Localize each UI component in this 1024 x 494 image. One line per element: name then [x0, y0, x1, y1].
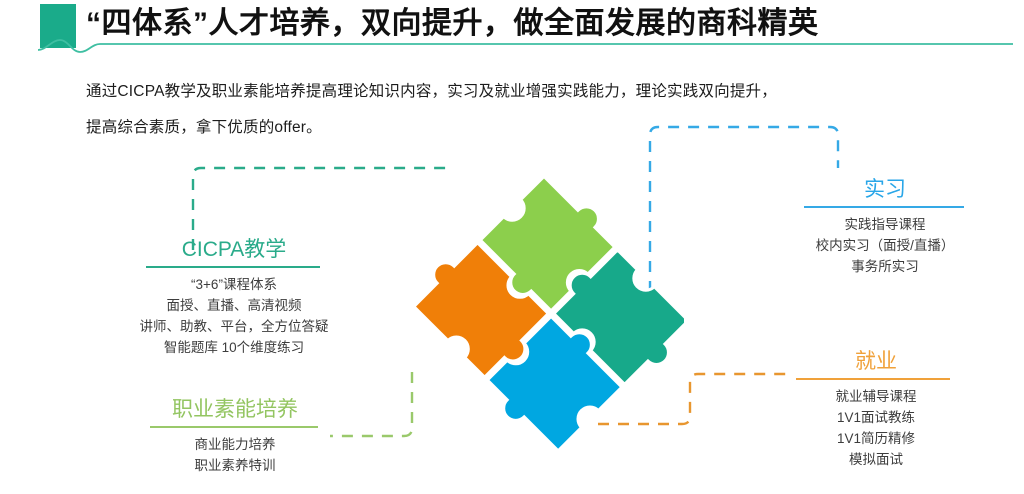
block-intern-line-2: 校内实习（面授/直播） [752, 235, 1018, 256]
block-employment-heading: 就业 [738, 348, 1014, 376]
block-employment-lines: 就业辅导课程 1V1面试教练 1V1简历精修 模拟面试 [738, 386, 1014, 470]
block-vocational: 职业素能培养 商业能力培养 职业素养特训 [102, 396, 368, 476]
block-intern-heading: 实习 [752, 176, 1018, 204]
block-vocational-lines: 商业能力培养 职业素养特训 [102, 434, 368, 476]
block-intern-lines: 实践指导课程 校内实习（面授/直播） 事务所实习 [752, 214, 1018, 277]
block-cicpa-line-2: 面授、直播、高清视频 [96, 295, 372, 316]
block-cicpa-line-3: 讲师、助教、平台，全方位答疑 [96, 316, 372, 337]
title-underline-squiggle [38, 38, 1013, 58]
block-cicpa-lines: “3+6”课程体系 面授、直播、高清视频 讲师、助教、平台，全方位答疑 智能题库… [96, 274, 372, 358]
block-cicpa-heading: CICPA教学 [96, 236, 372, 264]
block-cicpa-line-4: 智能题库 10个维度练习 [96, 337, 372, 358]
block-employment-line-1: 就业辅导课程 [738, 386, 1014, 407]
intro-line-2: 提高综合素质，拿下优质的offer。 [86, 110, 1006, 146]
intro-paragraph: 通过CICPA教学及职业素能培养提高理论知识内容，实习及就业增强实践能力，理论实… [86, 74, 1006, 146]
block-intern-line-1: 实践指导课程 [752, 214, 1018, 235]
block-vocational-line-1: 商业能力培养 [102, 434, 368, 455]
puzzle-graphic [404, 150, 684, 480]
block-cicpa-line-1: “3+6”课程体系 [96, 274, 372, 295]
slide-canvas: “四体系”人才培养，双向提升，做全面发展的商科精英 通过CICPA教学及职业素能… [0, 0, 1024, 494]
block-vocational-line-2: 职业素养特训 [102, 455, 368, 476]
intro-line-1: 通过CICPA教学及职业素能培养提高理论知识内容，实习及就业增强实践能力，理论实… [86, 74, 1006, 110]
block-employment-line-3: 1V1简历精修 [738, 428, 1014, 449]
block-vocational-rule [150, 426, 318, 428]
block-employment-line-2: 1V1面试教练 [738, 407, 1014, 428]
block-employment-rule [796, 378, 950, 380]
block-intern: 实习 实践指导课程 校内实习（面授/直播） 事务所实习 [752, 176, 1018, 277]
block-employment-line-4: 模拟面试 [738, 449, 1014, 470]
puzzle-svg [404, 150, 684, 480]
block-intern-rule [804, 206, 964, 208]
block-vocational-heading: 职业素能培养 [102, 396, 368, 424]
block-intern-line-3: 事务所实习 [752, 256, 1018, 277]
block-cicpa: CICPA教学 “3+6”课程体系 面授、直播、高清视频 讲师、助教、平台，全方… [96, 236, 372, 358]
block-cicpa-rule [146, 266, 320, 268]
block-employment: 就业 就业辅导课程 1V1面试教练 1V1简历精修 模拟面试 [738, 348, 1014, 470]
